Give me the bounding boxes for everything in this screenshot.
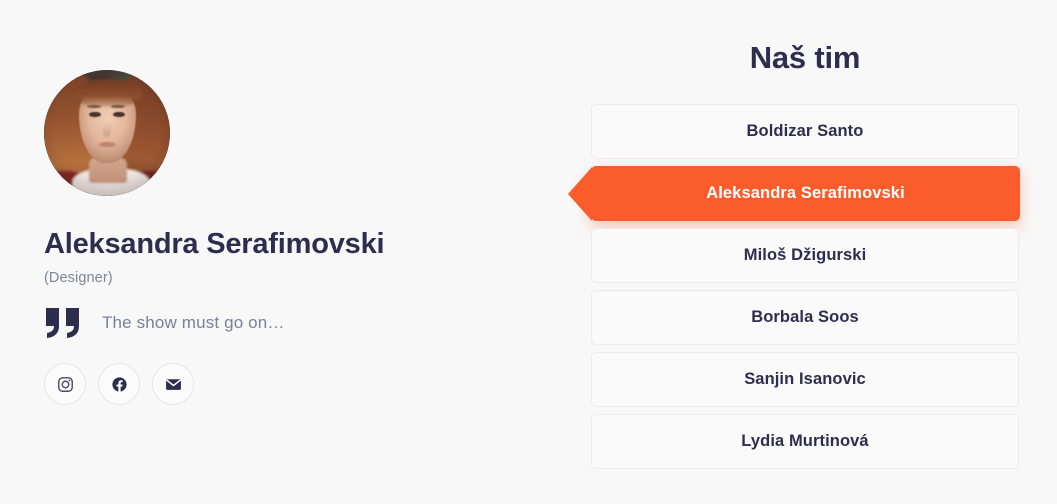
team-member-item[interactable]: Boldizar Santo bbox=[591, 104, 1019, 159]
envelope-icon bbox=[165, 376, 182, 393]
team-profile-page: Aleksandra Serafimovski (Designer) The s… bbox=[0, 0, 1057, 504]
team-member-item[interactable]: Miloš Džigurski bbox=[591, 228, 1019, 283]
team-title: Naš tim bbox=[591, 40, 1019, 76]
social-link-instagram[interactable] bbox=[44, 363, 86, 405]
team-member-name: Lydia Murtinová bbox=[741, 432, 868, 451]
facebook-icon bbox=[111, 376, 128, 393]
team-member-item[interactable]: Sanjin Isanovic bbox=[591, 352, 1019, 407]
team-member-name: Sanjin Isanovic bbox=[744, 370, 866, 389]
social-links bbox=[44, 363, 524, 405]
avatar-photo bbox=[44, 70, 170, 196]
profile-quote: The show must go on… bbox=[44, 308, 524, 338]
team-member-item[interactable]: Borbala Soos bbox=[591, 290, 1019, 345]
social-link-facebook[interactable] bbox=[98, 363, 140, 405]
profile-role: (Designer) bbox=[44, 270, 524, 286]
instagram-icon bbox=[57, 376, 74, 393]
team-member-name: Aleksandra Serafimovski bbox=[706, 184, 905, 203]
profile-name: Aleksandra Serafimovski bbox=[44, 228, 524, 261]
team-member-name: Borbala Soos bbox=[751, 308, 859, 327]
profile-panel: Aleksandra Serafimovski (Designer) The s… bbox=[44, 70, 524, 405]
quote-text: The show must go on… bbox=[102, 313, 285, 333]
team-panel: Naš tim Boldizar SantoAleksandra Serafim… bbox=[591, 40, 1019, 469]
social-link-email[interactable] bbox=[152, 363, 194, 405]
quote-marks-icon bbox=[44, 308, 84, 338]
team-member-item[interactable]: Lydia Murtinová bbox=[591, 414, 1019, 469]
team-member-name: Miloš Džigurski bbox=[744, 246, 867, 265]
team-member-item[interactable]: Aleksandra Serafimovski bbox=[591, 166, 1020, 221]
avatar bbox=[44, 70, 170, 196]
team-member-list: Boldizar SantoAleksandra SerafimovskiMil… bbox=[591, 104, 1019, 469]
team-member-name: Boldizar Santo bbox=[747, 122, 864, 141]
